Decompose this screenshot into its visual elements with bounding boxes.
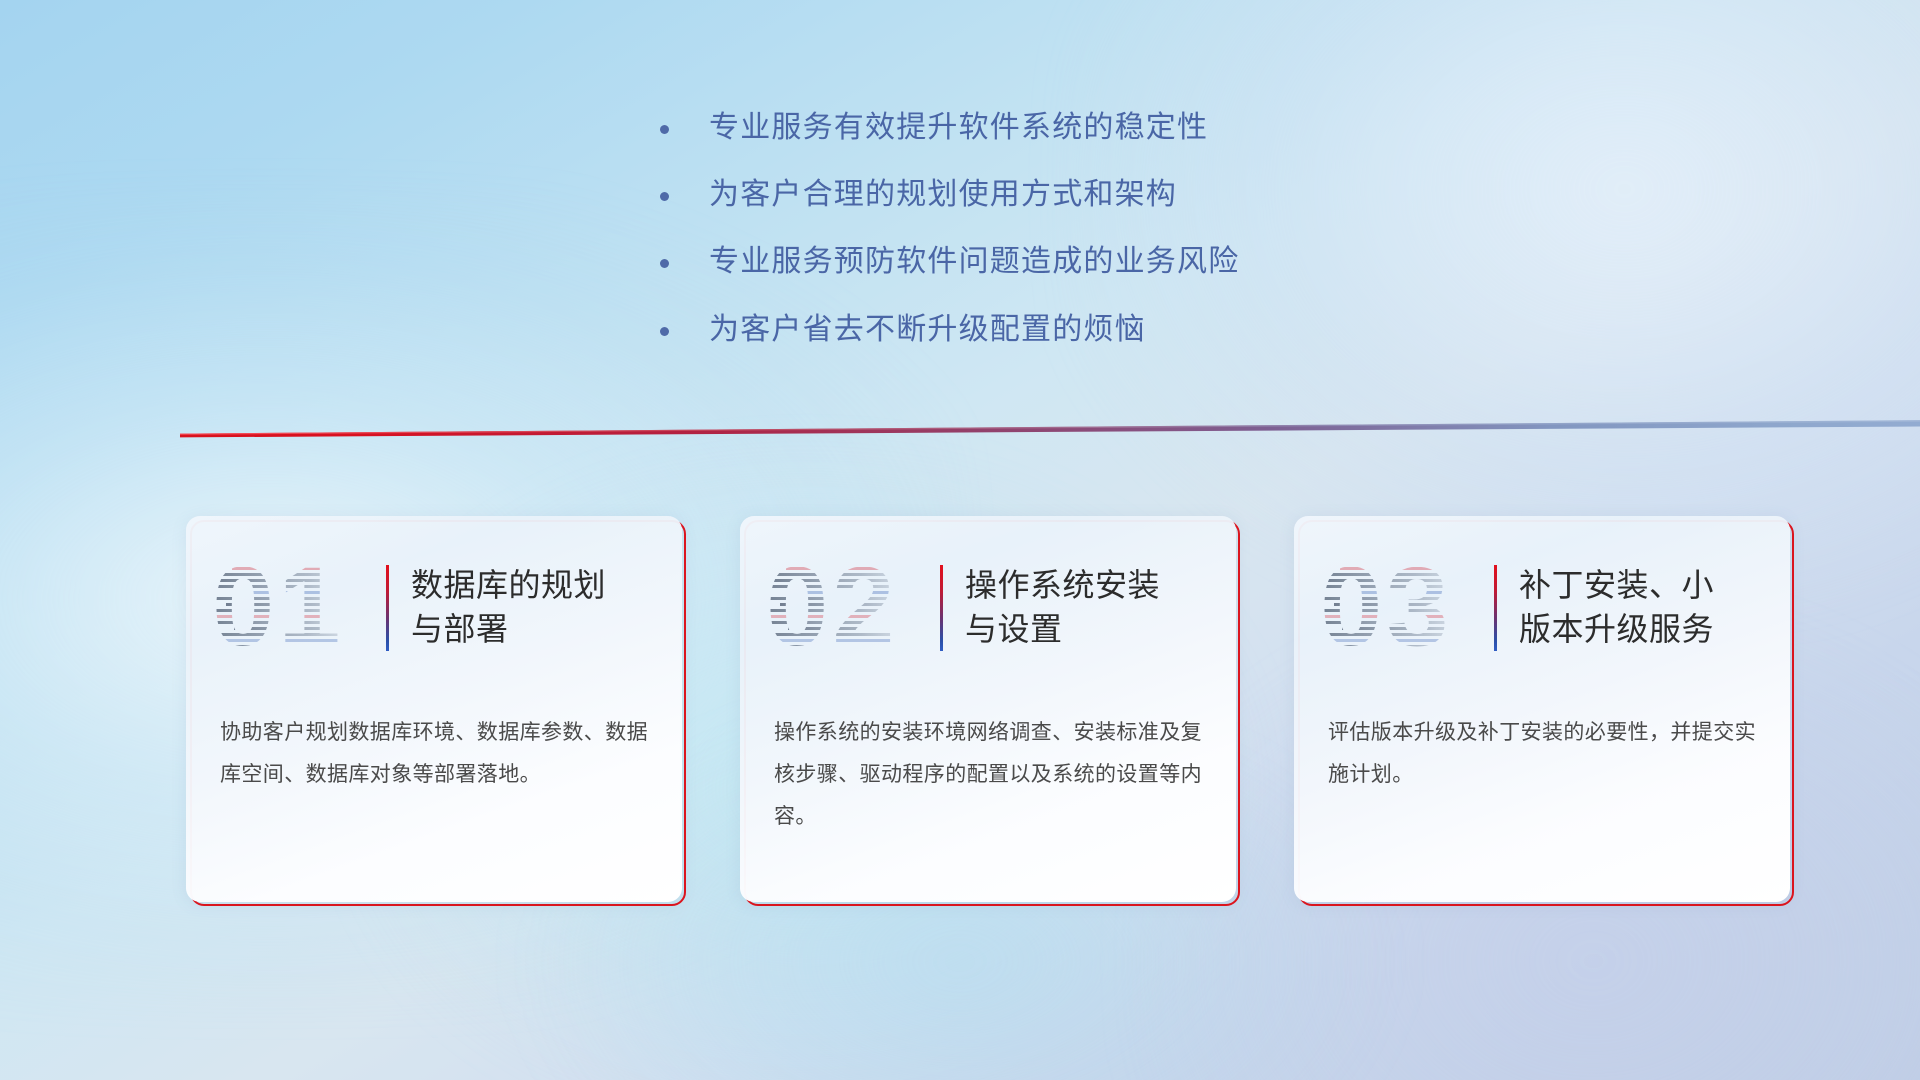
bullet-dot-icon — [660, 259, 669, 268]
card-accent-rule — [1494, 565, 1497, 651]
card-accent-rule — [940, 565, 943, 651]
card-title-line: 与设置 — [965, 608, 1160, 652]
service-card[interactable]: 03 — [1294, 516, 1790, 902]
list-item: 为客户合理的规划使用方式和架构 — [660, 175, 1660, 215]
card-description: 评估版本升级及补丁安装的必要性，并提交实施计划。 — [1328, 712, 1760, 796]
card-title-line: 版本升级服务 — [1519, 608, 1714, 652]
card-title-line: 与部署 — [411, 608, 606, 652]
bullet-dot-icon — [660, 192, 669, 201]
bullet-dot-icon — [660, 327, 669, 336]
card-panel: 02 — [740, 516, 1236, 902]
card-number-glyph: 01 — [210, 549, 386, 667]
card-title-line: 操作系统安装 — [965, 564, 1160, 608]
card-panel: 01 — [186, 516, 682, 902]
card-description: 协助客户规划数据库环境、数据库参数、数据库空间、数据库对象等部署落地。 — [220, 712, 652, 796]
card-description: 操作系统的安装环境网络调查、安装标准及复核步骤、驱动程序的配置以及系统的设置等内… — [774, 712, 1206, 838]
list-item: 专业服务有效提升软件系统的稳定性 — [660, 108, 1660, 148]
card-title: 数据库的规划 与部署 — [411, 564, 618, 651]
service-card[interactable]: 01 — [186, 516, 682, 902]
bullet-text: 专业服务预防软件问题造成的业务风险 — [709, 242, 1239, 282]
card-number-glyph: 02 — [764, 549, 940, 667]
card-title-line: 数据库的规划 — [411, 564, 606, 608]
card-header: 02 — [740, 534, 1236, 682]
bullet-list: 专业服务有效提升软件系统的稳定性 为客户合理的规划使用方式和架构 专业服务预防软… — [660, 108, 1660, 377]
list-item: 专业服务预防软件问题造成的业务风险 — [660, 242, 1660, 282]
card-accent-rule — [386, 565, 389, 651]
card-header: 01 — [186, 534, 682, 682]
card-header: 03 — [1294, 534, 1790, 682]
slide-root: 专业服务有效提升软件系统的稳定性 为客户合理的规划使用方式和架构 专业服务预防软… — [0, 0, 1920, 1080]
bullet-text: 为客户合理的规划使用方式和架构 — [709, 175, 1177, 215]
card-title: 操作系统安装 与设置 — [965, 564, 1172, 651]
bullet-text: 为客户省去不断升级配置的烦恼 — [709, 310, 1146, 350]
card-number-glyph: 03 — [1318, 549, 1494, 667]
card-title: 补丁安装、小 版本升级服务 — [1519, 564, 1726, 651]
card-title-line: 补丁安装、小 — [1519, 564, 1714, 608]
card-panel: 03 — [1294, 516, 1790, 902]
list-item: 为客户省去不断升级配置的烦恼 — [660, 310, 1660, 350]
card-row: 01 — [186, 516, 1786, 902]
bullet-text: 专业服务有效提升软件系统的稳定性 — [709, 108, 1208, 148]
bullet-dot-icon — [660, 125, 669, 134]
service-card[interactable]: 02 — [740, 516, 1236, 902]
